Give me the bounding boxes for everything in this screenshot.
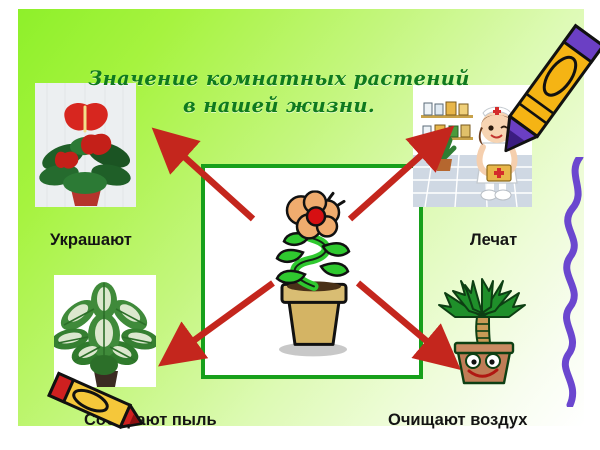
smiling-pot-plant-card <box>435 277 530 385</box>
red-tipped-yellow-crayon-icon <box>36 367 146 437</box>
slide-canvas: Значение комнатных растений в нашей жизн… <box>0 0 600 450</box>
label-decorate: Украшают <box>50 231 132 250</box>
slide-background: Значение комнатных растений в нашей жизн… <box>18 9 584 426</box>
label-air: Очищают воздух <box>388 411 527 430</box>
purple-tipped-yellow-crayon-icon <box>488 14 600 169</box>
center-frame <box>201 164 423 379</box>
page-title: Значение комнатных растений в нашей жизн… <box>64 65 494 119</box>
purple-wavy-line-icon <box>554 157 600 407</box>
smiling-pot-palm-plant-illustration <box>435 277 530 385</box>
label-heal: Лечат <box>470 231 517 250</box>
cartoon-potted-plant-icon <box>247 190 377 360</box>
